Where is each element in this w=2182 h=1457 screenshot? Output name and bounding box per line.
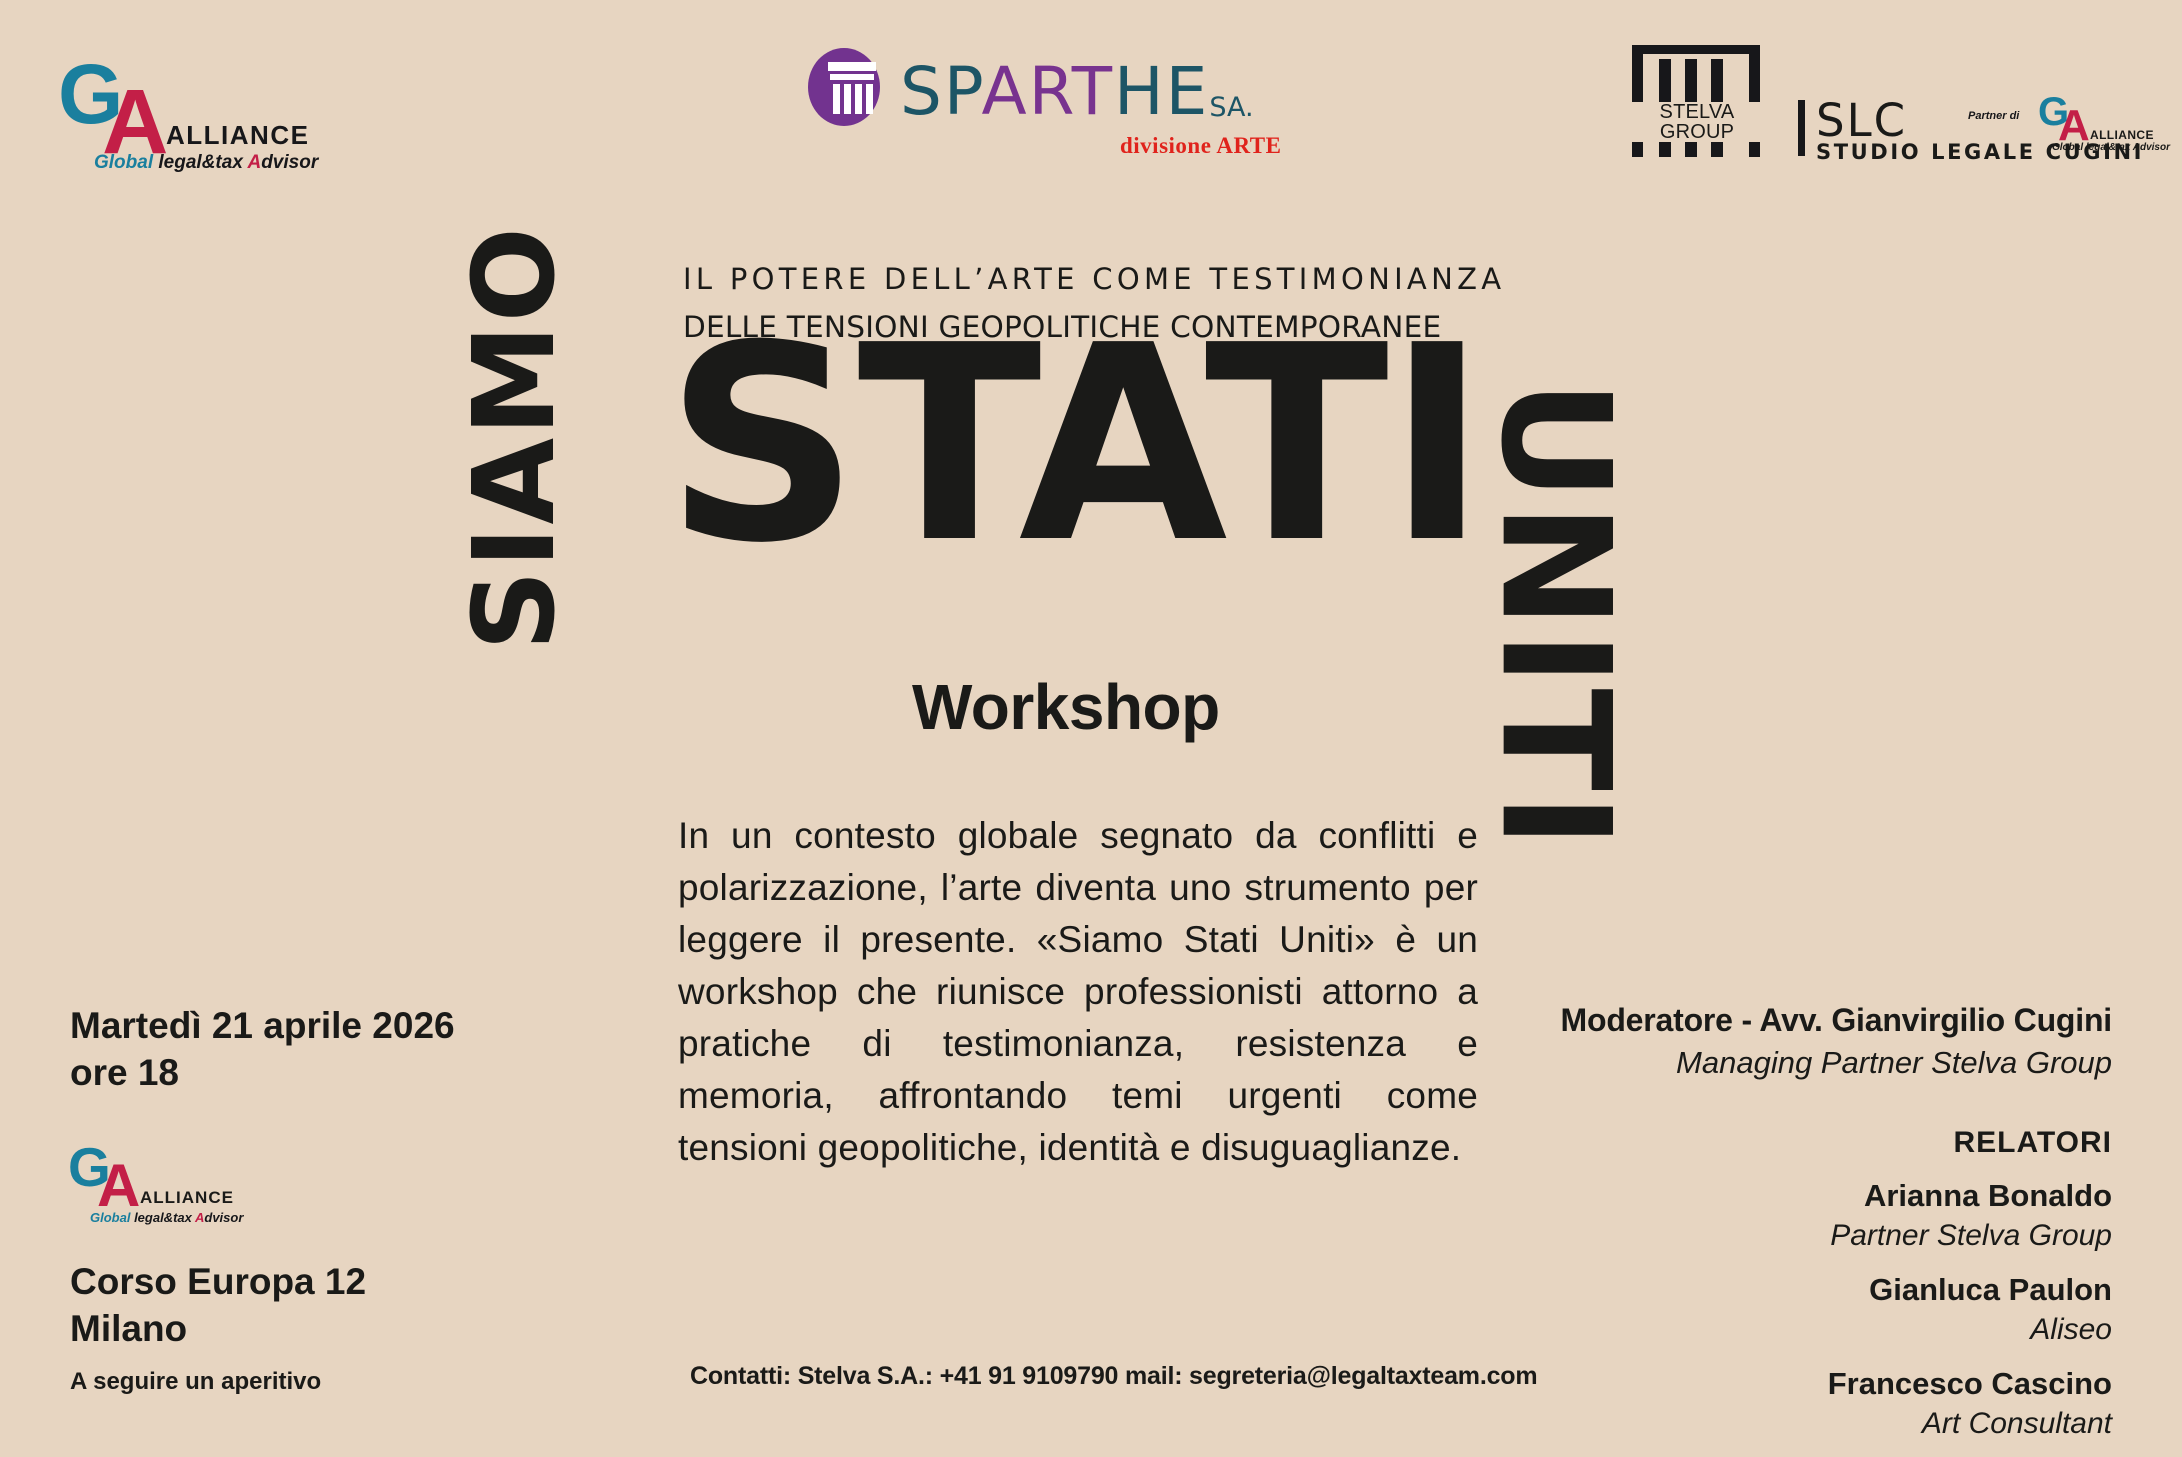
greek-column-glyph (828, 62, 876, 114)
sparthe-word-part2: ART (981, 53, 1114, 130)
moderator-role: Managing Partner Stelva Group (1492, 1042, 2112, 1084)
venue-address: Corso Europa 12 Milano (70, 1258, 366, 1352)
speaker-role: Art Consultant (1492, 1404, 2112, 1444)
ga-bottom-tagline-part3: A (195, 1210, 204, 1225)
speaker-role: Aliseo (1492, 1310, 2112, 1350)
headline-word-uniti-text: UNITI (1480, 379, 1630, 850)
ga-alliance-logo-venue: G A ALLIANCE Global legal&tax Advisor (68, 1140, 308, 1250)
speaker-name: Francesco Cascino (1492, 1364, 2112, 1404)
moderator-name: Moderatore - Avv. Gianvirgilio Cugini (1492, 1000, 2112, 1040)
speaker-entry: Arianna Bonaldo Partner Stelva Group (1492, 1176, 2112, 1256)
aperitivo-note: A seguire un aperitivo (70, 1368, 321, 1396)
ga-bottom-alliance-wordmark: ALLIANCE (140, 1188, 234, 1208)
ga-tagline: Global legal&tax Advisor (94, 152, 318, 174)
venue-city: Milano (70, 1305, 366, 1352)
speaker-name: Arianna Bonaldo (1492, 1176, 2112, 1216)
ga-tagline-part4: dvisor (261, 152, 318, 173)
poster-canvas: G A ALLIANCE Global legal&tax Advisor SP… (0, 0, 2182, 1457)
headline-word-siamo: SIAMO (455, 238, 575, 638)
ga-bottom-tagline-part1: Global (90, 1210, 134, 1225)
description-paragraph: In un contesto globale segnato da confli… (678, 810, 1478, 1174)
description-text: In un contesto globale segnato da confli… (678, 810, 1478, 1174)
sparthe-logo: SPARTHESA. divisione ARTE (800, 48, 1360, 178)
ga-bottom-tagline-part4: dvisor (204, 1210, 243, 1225)
sparthe-suffix: SA. (1209, 92, 1253, 123)
stelva-group-wordmark: STELVA GROUP (1630, 102, 1764, 142)
ga-partner-label: Partner di (1968, 110, 2019, 122)
ga-bottom-tagline: Global legal&tax Advisor (90, 1210, 243, 1225)
headline-word-stati: STATI (665, 330, 1485, 560)
ga-tagline-part2: legal&tax (158, 152, 247, 173)
ga-tagline-part1: Global (94, 152, 158, 173)
speaker-role: Partner Stelva Group (1492, 1216, 2112, 1256)
venue-street: Corso Europa 12 (70, 1258, 366, 1305)
slc-divider-bar (1798, 100, 1805, 156)
sparthe-word-part1: SP (900, 53, 981, 130)
speakers-section-title: RELATORI (1492, 1124, 2112, 1162)
speaker-entry: Francesco Cascino Art Consultant (1492, 1364, 2112, 1444)
ga-bottom-letter-a-icon: A (97, 1156, 140, 1216)
contact-line: Contatti: Stelva S.A.: +41 91 9109790 ma… (690, 1362, 1537, 1391)
ga-small-alliance-wordmark: ALLIANCE (2090, 128, 2154, 142)
event-time: ore 18 (70, 1049, 455, 1096)
sparthe-wordmark: SPARTHESA. (900, 53, 1254, 130)
event-datetime: Martedì 21 aprile 2026 ore 18 (70, 1002, 455, 1096)
event-date: Martedì 21 aprile 2026 (70, 1002, 455, 1049)
sparthe-word-part3: HE (1114, 53, 1209, 130)
sparthe-division-label: divisione ARTE (1120, 133, 1282, 159)
speaker-name: Gianluca Paulon (1492, 1270, 2112, 1310)
ga-tagline-part3: A (247, 152, 261, 173)
headline-word-uniti: UNITI (1470, 355, 1640, 875)
event-type-label: Workshop (912, 670, 1220, 744)
speaker-entry: Gianluca Paulon Aliseo (1492, 1270, 2112, 1350)
speakers-panel: Moderatore - Avv. Gianvirgilio Cugini Ma… (1492, 1000, 2112, 1444)
ga-alliance-logo-partner: Partner di G A ALLIANCE Global legal&tax… (2038, 96, 2148, 158)
ga-alliance-logo-top: G A ALLIANCE Global legal&tax Advisor (58, 52, 318, 172)
ga-small-tagline: Global legal&tax Advisor (2052, 142, 2170, 153)
sparthe-column-icon (808, 48, 880, 126)
ga-bottom-tagline-part2: legal&tax (134, 1210, 195, 1225)
ga-alliance-wordmark: ALLIANCE (166, 120, 309, 151)
stelva-group-logo: STELVA GROUP (1632, 45, 1767, 165)
headline-word-siamo-text: SIAMO (459, 225, 571, 651)
